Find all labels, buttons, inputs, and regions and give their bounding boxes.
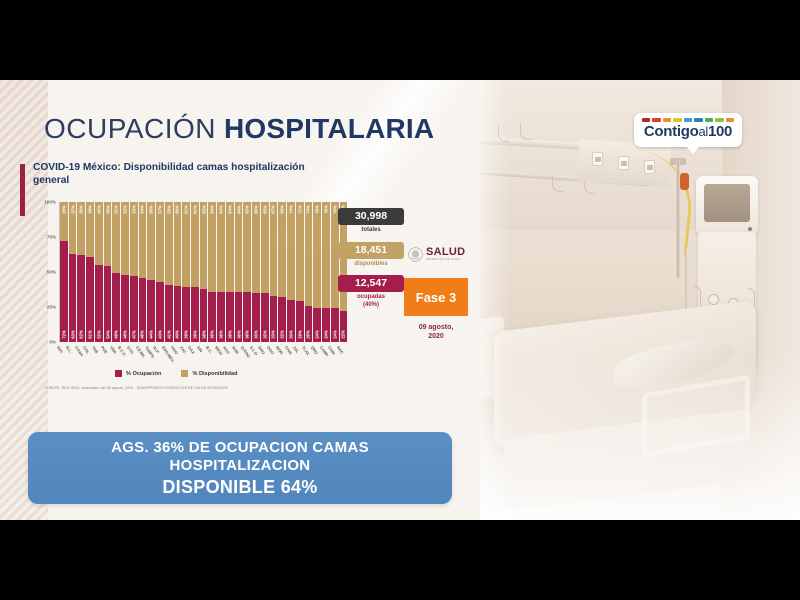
bar-segment-occupation: 72%: [60, 241, 68, 342]
bar-segment-occupation: 33%: [270, 296, 278, 342]
bar-segment-occupation: 24%: [313, 308, 321, 342]
chart-bar: 65%35%: [252, 202, 260, 342]
wall-outlet-icon: [592, 152, 603, 166]
legend-item-occupation: % Ocupación: [115, 370, 161, 377]
stat-value-disponibles: 18,451: [340, 245, 402, 256]
iv-hook-icon: [520, 124, 531, 140]
bar-label-occupation: 22%: [341, 330, 346, 338]
logo-dash: [663, 118, 671, 122]
bar-segment-occupation: 36%: [217, 292, 225, 342]
bar-segment-occupation: 35%: [261, 293, 269, 342]
logo-word-al: al: [698, 124, 708, 139]
bar-segment-availability: 70%: [287, 202, 295, 300]
card-accent-bar: [20, 164, 25, 216]
bar-label-occupation: 40%: [175, 330, 180, 338]
legend-label-availability: % Disponibilidad: [192, 371, 237, 377]
bar-label-availability: 51%: [114, 205, 119, 213]
bar-label-availability: 65%: [262, 205, 267, 213]
logo-word-100: 100: [708, 123, 732, 140]
bar-label-availability: 60%: [175, 205, 180, 213]
bar-segment-occupation: 39%: [182, 287, 190, 342]
logo-dash: [694, 118, 702, 122]
stat-caption-disponibles: disponibles: [338, 261, 404, 269]
chart-bar: 67%33%: [270, 202, 278, 342]
bar-segment-availability: 64%: [235, 202, 243, 292]
bar-segment-availability: 61%: [182, 202, 190, 287]
chart-bar: 71%29%: [296, 202, 304, 342]
bar-segment-occupation: 26%: [305, 306, 313, 342]
bar-segment-occupation: 62%: [77, 255, 85, 342]
bar-segment-availability: 53%: [130, 202, 138, 276]
bar-segment-occupation: 30%: [287, 300, 295, 342]
fase-badge: Fase 3: [404, 278, 468, 316]
bar-segment-availability: 28%: [60, 202, 68, 241]
bar-segment-occupation: 24%: [322, 308, 330, 342]
bar-segment-occupation: 63%: [69, 254, 77, 342]
bar-label-occupation: 39%: [184, 330, 189, 338]
bar-label-availability: 71%: [297, 205, 302, 213]
bar-label-occupation: 47%: [131, 330, 136, 338]
y-tick-label: 25%: [47, 305, 56, 310]
bar-label-occupation: 36%: [245, 330, 250, 338]
hospital-bed: [480, 308, 790, 518]
bar-segment-availability: 60%: [174, 202, 182, 286]
chart-bar: 37%63%: [69, 202, 77, 342]
bar-label-occupation: 24%: [332, 330, 337, 338]
chart-bar: 52%48%: [121, 202, 129, 342]
bar-segment-occupation: 36%: [226, 292, 234, 342]
bar-segment-availability: 62%: [200, 202, 208, 289]
video-panel: Contigoal100: [480, 80, 800, 520]
bar-label-availability: 61%: [184, 205, 189, 213]
bar-segment-availability: 76%: [313, 202, 321, 308]
bar-label-availability: 56%: [149, 205, 154, 213]
bar-label-availability: 62%: [201, 205, 206, 213]
bar-label-occupation: 36%: [227, 330, 232, 338]
bar-segment-occupation: 41%: [165, 285, 173, 342]
bar-segment-availability: 65%: [261, 202, 269, 293]
legend-item-availability: % Disponibilidad: [181, 370, 237, 377]
bar-label-availability: 76%: [323, 205, 328, 213]
bar-label-availability: 67%: [271, 205, 276, 213]
bar-segment-availability: 51%: [112, 202, 120, 273]
bar-segment-availability: 68%: [278, 202, 286, 297]
bar-label-occupation: 61%: [88, 330, 93, 338]
bar-label-occupation: 62%: [79, 330, 84, 338]
bar-label-availability: 70%: [288, 205, 293, 213]
screen: OCUPACIÓN HOSPITALARIA: [0, 0, 800, 600]
bar-label-availability: 28%: [61, 205, 66, 213]
contigo-al-100-logo: Contigoal100: [634, 113, 742, 147]
logo-dash: [726, 118, 734, 122]
legend-swatch-availability: [181, 370, 188, 377]
bar-segment-occupation: 29%: [296, 301, 304, 342]
presentation-slide: OCUPACIÓN HOSPITALARIA: [0, 80, 480, 520]
bar-label-occupation: 29%: [297, 330, 302, 338]
bar-label-availability: 68%: [280, 205, 285, 213]
y-tick-label: 75%: [47, 235, 56, 240]
fecha-label: 09 agosto,2020: [400, 323, 472, 341]
logo-wordmark: Contigoal100: [634, 123, 742, 140]
bar-label-occupation: 49%: [114, 330, 119, 338]
chart-bar: 57%43%: [156, 202, 164, 342]
bar-label-occupation: 24%: [323, 330, 328, 338]
logo-dash: [705, 118, 713, 122]
bar-segment-occupation: 44%: [147, 280, 155, 342]
chart-source-note: FUENTE: RED IRAG, acumulado del 08 agost…: [45, 386, 350, 390]
patient-monitor: [696, 176, 758, 236]
chart-legend: % Ocupación % Disponibilidad: [115, 370, 238, 377]
bar-label-availability: 64%: [227, 205, 232, 213]
bar-label-occupation: 24%: [315, 330, 320, 338]
emergency-valve-handle: [680, 173, 689, 190]
bar-segment-availability: 67%: [270, 202, 278, 296]
title-word-bold: HOSPITALARIA: [224, 113, 434, 145]
chart-bar: 51%49%: [112, 202, 120, 342]
bar-label-occupation: 63%: [70, 330, 75, 338]
bar-label-availability: 54%: [140, 205, 145, 213]
bar-label-occupation: 38%: [201, 330, 206, 338]
banner-line-3: DISPONIBLE 64%: [162, 477, 317, 498]
lower-third-banner: AGS. 36% DE OCUPACION CAMAS HOSPITALIZAC…: [28, 432, 452, 504]
monitor-led-icon: [748, 227, 752, 231]
chart-bar: 28%72%: [60, 202, 68, 342]
chart-plot-area: 0%25%50%75%100% 28%72%37%63%38%62%39%61%…: [36, 202, 348, 358]
bar-segment-availability: 56%: [147, 202, 155, 280]
bar-label-availability: 46%: [105, 205, 110, 213]
chart-bar: 70%30%: [287, 202, 295, 342]
chart-bar: 56%44%: [147, 202, 155, 342]
bar-segment-availability: 54%: [139, 202, 147, 278]
bar-segment-occupation: 48%: [121, 275, 129, 342]
bar-label-occupation: 41%: [166, 330, 171, 338]
stat-caption-totales: totales: [338, 227, 404, 235]
bar-label-occupation: 55%: [96, 330, 101, 338]
logo-word-contigo: Contigo: [644, 123, 699, 140]
bar-segment-availability: 52%: [121, 202, 129, 275]
stat-caption-ocupadas: ocupadas(40%): [338, 294, 404, 309]
bar-label-availability: 37%: [70, 205, 75, 213]
chart-bar: 61%39%: [191, 202, 199, 342]
bar-label-availability: 74%: [306, 205, 311, 213]
logo-dash: [652, 118, 660, 122]
y-axis: 0%25%50%75%100%: [36, 202, 58, 342]
salud-name: SALUD: [426, 247, 465, 258]
bar-segment-occupation: 36%: [235, 292, 243, 342]
bar-label-availability: 65%: [245, 205, 250, 213]
bar-label-occupation: 30%: [288, 330, 293, 338]
bar-label-occupation: 48%: [123, 330, 128, 338]
bar-label-occupation: 33%: [271, 330, 276, 338]
bar-segment-occupation: 55%: [95, 265, 103, 342]
bar-series-container: 28%72%37%63%38%62%39%61%45%55%46%54%51%4…: [59, 202, 347, 342]
bar-label-availability: 64%: [219, 205, 224, 213]
bar-segment-availability: 64%: [217, 202, 225, 292]
stat-value-totales: 30,998: [340, 211, 402, 222]
bar-segment-availability: 59%: [165, 202, 173, 285]
bar-label-availability: 57%: [157, 205, 162, 213]
salud-wordmark: SALUD SECRETARÍA DE SALUD: [426, 247, 465, 262]
bar-label-occupation: 36%: [210, 330, 215, 338]
bar-segment-availability: 71%: [296, 202, 304, 301]
chart-title: COVID-19 México: Disponibilidad camas ho…: [33, 161, 333, 188]
title-word-light: OCUPACIÓN: [44, 113, 216, 145]
stat-pill-totales: 30,998: [338, 208, 404, 225]
banner-line-2: HOSPITALIZACION: [170, 457, 311, 474]
bar-segment-occupation: 61%: [86, 257, 94, 342]
salud-subtitle: SECRETARÍA DE SALUD: [426, 259, 465, 262]
bar-label-occupation: 39%: [192, 330, 197, 338]
bar-segment-availability: 57%: [156, 202, 164, 282]
bar-segment-occupation: 32%: [278, 297, 286, 342]
bar-segment-occupation: 43%: [156, 282, 164, 342]
logo-dash: [642, 118, 650, 122]
bar-segment-availability: 65%: [252, 202, 260, 293]
bar-segment-availability: 64%: [226, 202, 234, 292]
bar-segment-availability: 61%: [191, 202, 199, 287]
salud-logo: SALUD SECRETARÍA DE SALUD: [408, 243, 472, 265]
bar-label-availability: 39%: [88, 205, 93, 213]
bar-segment-availability: 76%: [322, 202, 330, 308]
bar-segment-occupation: 39%: [191, 287, 199, 342]
bar-label-availability: 65%: [254, 205, 259, 213]
stat-pill-ocupadas: 12,547: [338, 275, 404, 292]
legend-label-occupation: % Ocupación: [126, 371, 161, 377]
y-tick-label: 50%: [47, 270, 56, 275]
chart-bar: 46%54%: [104, 202, 112, 342]
slide-title: OCUPACIÓN HOSPITALARIA: [44, 104, 444, 154]
chart-bar: 64%36%: [217, 202, 225, 342]
logo-color-dashes: [642, 118, 734, 122]
x-axis-labels: NAYN.L.COAHCOLTABPUEVERB.C.S.GTOCD.MX.TA…: [59, 344, 347, 368]
bar-segment-occupation: 47%: [130, 276, 138, 342]
y-tick-label: 100%: [44, 200, 56, 205]
iv-hook-icon: [552, 176, 563, 192]
chart-bar: 74%26%: [305, 202, 313, 342]
bar-segment-occupation: 40%: [174, 286, 182, 342]
chart-bar: 45%55%: [95, 202, 103, 342]
chart-bar: 61%39%: [182, 202, 190, 342]
logo-dash: [684, 118, 692, 122]
bar-label-occupation: 43%: [157, 330, 162, 338]
banner-line-1: AGS. 36% DE OCUPACION CAMAS: [111, 439, 369, 456]
bar-segment-availability: 46%: [104, 202, 112, 266]
chart-bar: 39%61%: [86, 202, 94, 342]
bar-label-availability: 45%: [96, 205, 101, 213]
stat-value-ocupadas: 12,547: [340, 278, 402, 289]
bar-label-occupation: 46%: [140, 330, 145, 338]
bar-label-occupation: 54%: [105, 330, 110, 338]
bar-label-availability: 61%: [192, 205, 197, 213]
chart-bar: 68%32%: [278, 202, 286, 342]
bar-label-occupation: 44%: [149, 330, 154, 338]
chart-bar: 54%46%: [139, 202, 147, 342]
legend-swatch-occupation: [115, 370, 122, 377]
bar-label-occupation: 72%: [61, 330, 66, 338]
bar-segment-availability: 65%: [243, 202, 251, 292]
fase-label: Fase 3: [416, 290, 456, 305]
chart-bar: 64%36%: [208, 202, 216, 342]
chart-bar: 62%38%: [200, 202, 208, 342]
bar-label-availability: 76%: [315, 205, 320, 213]
bar-label-availability: 38%: [79, 205, 84, 213]
chart-bar: 65%35%: [261, 202, 269, 342]
iv-hook-icon: [498, 126, 509, 142]
bar-segment-occupation: 38%: [200, 289, 208, 342]
bar-segment-occupation: 36%: [208, 292, 216, 342]
bar-segment-availability: 38%: [77, 202, 85, 255]
bar-label-occupation: 26%: [306, 330, 311, 338]
bar-label-availability: 59%: [166, 205, 171, 213]
bar-segment-availability: 74%: [305, 202, 313, 306]
chart-card: COVID-19 México: Disponibilidad camas ho…: [20, 164, 350, 420]
y-tick-label: 0%: [49, 340, 56, 345]
bar-segment-availability: 37%: [69, 202, 77, 254]
chart-bar: 76%24%: [313, 202, 321, 342]
mexico-government-seal-icon: [408, 247, 423, 262]
bar-segment-occupation: 54%: [104, 266, 112, 342]
chart-bar: 53%47%: [130, 202, 138, 342]
bar-segment-occupation: 49%: [112, 273, 120, 342]
bar-label-availability: 64%: [210, 205, 215, 213]
bar-segment-availability: 64%: [208, 202, 216, 292]
logo-dash: [715, 118, 723, 122]
monitor-screen: [704, 184, 750, 222]
stat-pill-disponibles: 18,451: [338, 242, 404, 259]
bar-label-availability: 52%: [123, 205, 128, 213]
chart-bar: 76%24%: [322, 202, 330, 342]
logo-dash: [673, 118, 681, 122]
bar-segment-occupation: 35%: [252, 293, 260, 342]
summary-stats: 30,998 totales 18,451 disponibles 12,547…: [338, 208, 404, 316]
chart-bar: 65%36%: [243, 202, 251, 342]
bar-label-occupation: 35%: [262, 330, 267, 338]
bar-segment-occupation: 36%: [243, 292, 251, 342]
chart-bar: 38%62%: [77, 202, 85, 342]
x-tick-label: NAC: [339, 344, 347, 368]
bar-segment-availability: 39%: [86, 202, 94, 257]
ventilator-knob: [708, 294, 719, 305]
chart-bar: 64%36%: [226, 202, 234, 342]
bar-segment-occupation: 46%: [139, 278, 147, 342]
bar-segment-availability: 45%: [95, 202, 103, 265]
bar-label-availability: 76%: [332, 205, 337, 213]
bar-label-occupation: 35%: [254, 330, 259, 338]
bar-label-availability: 64%: [236, 205, 241, 213]
bar-label-availability: 53%: [131, 205, 136, 213]
bar-label-occupation: 36%: [236, 330, 241, 338]
chart-bar: 60%40%: [174, 202, 182, 342]
chart-bar: 64%36%: [235, 202, 243, 342]
chart-bar: 59%41%: [165, 202, 173, 342]
bar-label-occupation: 32%: [280, 330, 285, 338]
bar-label-occupation: 36%: [219, 330, 224, 338]
